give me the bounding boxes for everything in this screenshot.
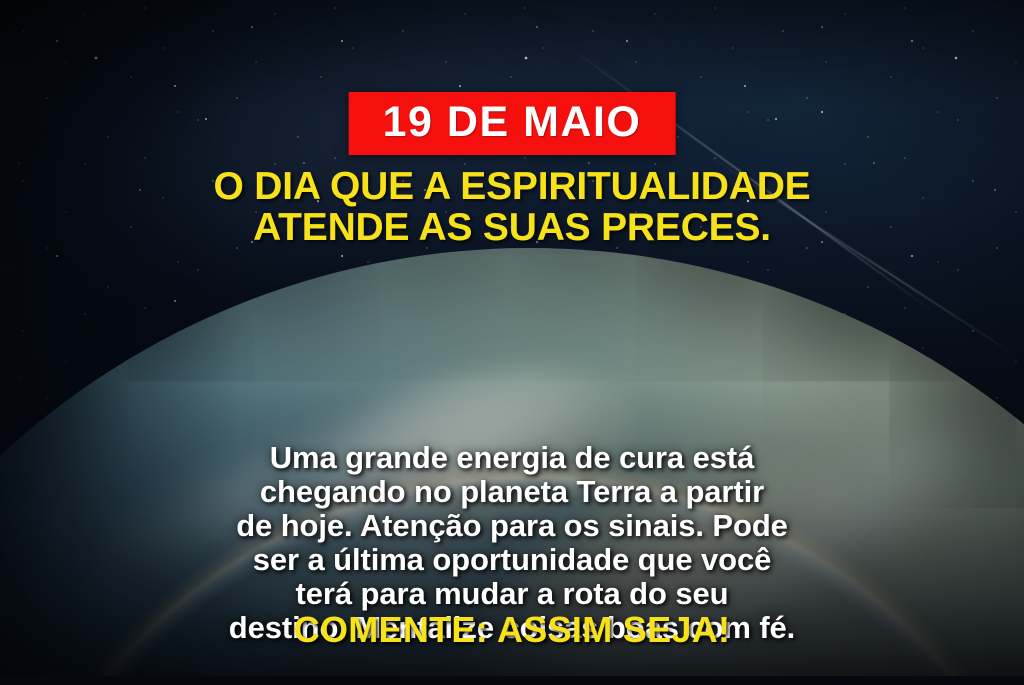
body-text-line-5: terá para mudar a rota do seu: [26, 577, 998, 611]
poster-canvas: 19 DE MAIO O DIA QUE A ESPIRITUALIDADE A…: [0, 0, 1024, 685]
poster-content: 19 DE MAIO O DIA QUE A ESPIRITUALIDADE A…: [0, 0, 1024, 685]
call-to-action-text: COMENTE: ASSIM SEJA!: [0, 612, 1024, 648]
headline-line-2: ATENDE AS SUAS PRECES.: [40, 207, 984, 248]
body-text-line-1: Uma grande energia de cura está: [26, 441, 998, 475]
date-banner-label: 19 DE MAIO: [383, 101, 642, 144]
date-banner: 19 DE MAIO: [349, 92, 676, 155]
body-text-line-4: ser a última oportunidade que você: [26, 543, 998, 577]
body-text-line-2: chegando no planeta Terra a partir: [26, 475, 998, 509]
headline: O DIA QUE A ESPIRITUALIDADE ATENDE AS SU…: [0, 166, 1024, 249]
body-text-line-3: de hoje. Atenção para os sinais. Pode: [26, 509, 998, 543]
headline-line-1: O DIA QUE A ESPIRITUALIDADE: [40, 166, 984, 207]
